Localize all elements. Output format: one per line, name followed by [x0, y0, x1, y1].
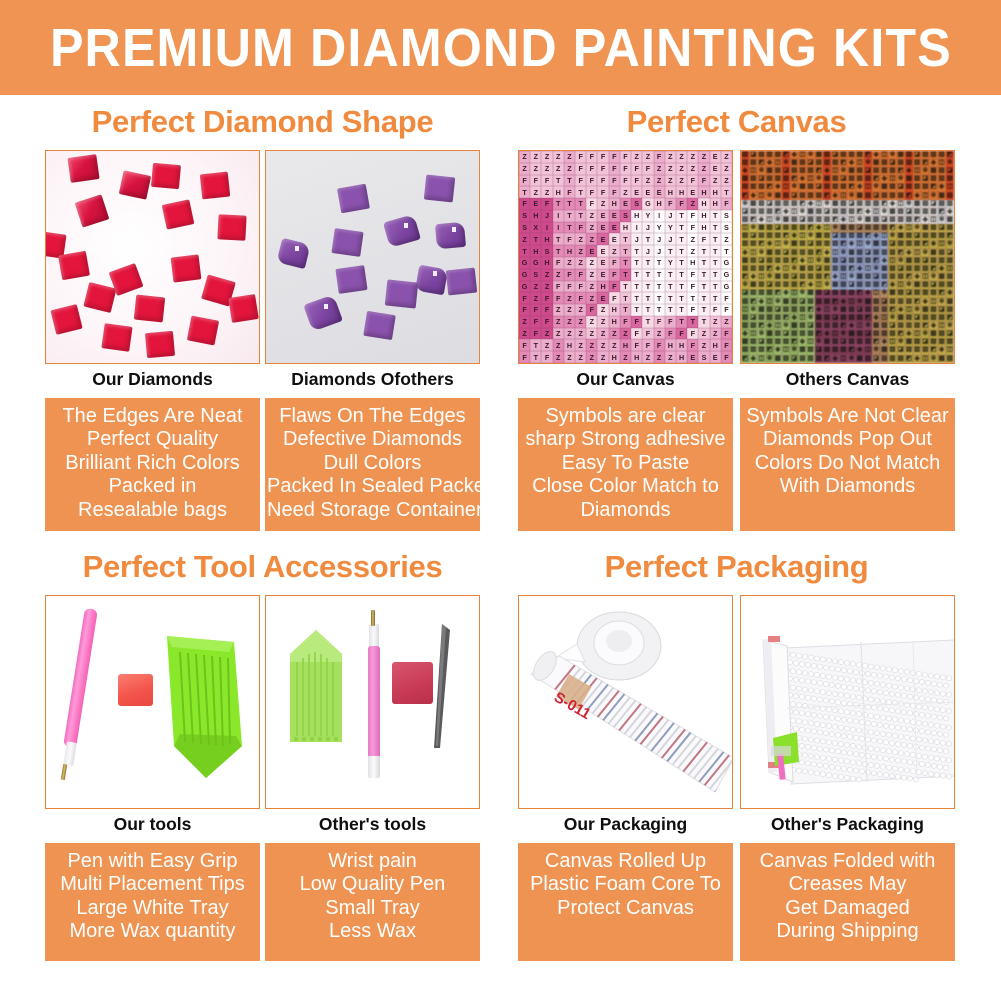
feature-line: More Wax quantity: [47, 920, 258, 944]
feature-line: Wrist pain: [267, 850, 478, 874]
section-title-canvas: Perfect Canvas: [518, 106, 955, 137]
others-diamonds-photo: [265, 150, 480, 364]
feature-line: Small Tray: [267, 897, 478, 921]
section-diamond-shape: Perfect Diamond Shape Our Diamonds Diamo…: [45, 106, 480, 531]
photo-pair-tools: [45, 595, 480, 809]
feature-line: Plastic Foam Core To: [520, 873, 731, 897]
feature-line: Easy To Paste: [520, 452, 731, 476]
section-title-tool-accessories: Perfect Tool Accessories: [45, 551, 480, 582]
others-canvas-photo: ▨◪▤▥▧◩◈◫※▩▨◪▤▥▧◩◈◫※▩▨◪▤▥▧◩▥▧◩◈◫※▩▨◪▤▥▧◩◈…: [740, 150, 955, 364]
feature-line: Get Damaged: [742, 897, 953, 921]
feature-line: The Edges Are Neat: [47, 405, 258, 429]
textbox-others-tools: Wrist pain Low Quality Pen Small Tray Le…: [265, 843, 480, 961]
feature-line: Canvas Folded with: [742, 850, 953, 874]
feature-line: Colors Do Not Match: [742, 452, 953, 476]
our-tools-art: [46, 596, 259, 808]
page-title: PREMIUM DIAMOND PAINTING KITS: [50, 21, 952, 75]
feature-line: Canvas Rolled Up: [520, 850, 731, 874]
feature-line: Symbols are clear: [520, 405, 731, 429]
section-title-diamond-shape: Perfect Diamond Shape: [45, 106, 480, 137]
feature-line: Dull Colors: [267, 452, 478, 476]
feature-line: Large White Tray: [47, 897, 258, 921]
feature-line: With Diamonds: [742, 475, 953, 499]
our-packaging-photo: S-011: [518, 595, 733, 809]
feature-line: Creases May: [742, 873, 953, 897]
caption-others-diamonds: Diamonds Ofothers: [265, 371, 480, 389]
caption-others-canvas: Others Canvas: [740, 371, 955, 389]
feature-line: Packed in: [47, 475, 258, 499]
section-packaging: Perfect Packaging S-011 Our Packaging Ot…: [518, 551, 955, 961]
our-tools-photo: [45, 595, 260, 809]
caption-row-packaging: Our Packaging Other's Packaging: [518, 816, 955, 834]
feature-line: Packed In Sealed Packets: [267, 475, 478, 499]
section-title-packaging: Perfect Packaging: [518, 551, 955, 582]
our-canvas-symbol-grid: ZZZZZFFFFFZZFZZZZEZZZZZZFFFFFFFZZZZZEZFF…: [519, 151, 732, 363]
textbox-our-tools: Pen with Easy Grip Multi Placement Tips …: [45, 843, 260, 961]
others-tools-art: [266, 596, 479, 808]
textbox-row-diamond-shape: The Edges Are Neat Perfect Quality Brill…: [45, 398, 480, 532]
textbox-our-canvas: Symbols are clear sharp Strong adhesive …: [518, 398, 733, 532]
red-diamonds-art: [46, 151, 259, 363]
textbox-row-tools: Pen with Easy Grip Multi Placement Tips …: [45, 843, 480, 961]
feature-line: Pen with Easy Grip: [47, 850, 258, 874]
feature-line: Protect Canvas: [520, 897, 731, 921]
caption-our-diamonds: Our Diamonds: [45, 371, 260, 389]
feature-line: Less Wax: [267, 920, 478, 944]
feature-line: Low Quality Pen: [267, 873, 478, 897]
canvas-tube-art: S-011: [519, 596, 732, 808]
others-canvas-symbol-grid: ▨◪▤▥▧◩◈◫※▩▨◪▤▥▧◩◈◫※▩▨◪▤▥▧◩▥▧◩◈◫※▩▨◪▤▥▧◩◈…: [741, 151, 954, 363]
photo-pair-diamond-shape: [45, 150, 480, 364]
feature-line: Perfect Quality: [47, 428, 258, 452]
section-tool-accessories: Perfect Tool Accessories Our tools Other…: [45, 551, 480, 961]
feature-line: Defective Diamonds: [267, 428, 478, 452]
textbox-others-diamonds: Flaws On The Edges Defective Diamonds Du…: [265, 398, 480, 532]
caption-our-canvas: Our Canvas: [518, 371, 733, 389]
feature-line: Multi Placement Tips: [47, 873, 258, 897]
textbox-our-packaging: Canvas Rolled Up Plastic Foam Core To Pr…: [518, 843, 733, 961]
infographic-page: PREMIUM DIAMOND PAINTING KITS Perfect Di…: [0, 0, 1001, 1001]
textbox-others-canvas: Symbols Are Not Clear Diamonds Pop Out C…: [740, 398, 955, 532]
textbox-others-packaging: Canvas Folded with Creases May Get Damag…: [740, 843, 955, 961]
textbox-row-canvas: Symbols are clear sharp Strong adhesive …: [518, 398, 955, 532]
caption-row-diamond-shape: Our Diamonds Diamonds Ofothers: [45, 371, 480, 389]
bubble-mailer-art: [741, 596, 954, 808]
caption-our-tools: Our tools: [45, 816, 260, 834]
photo-pair-canvas: ZZZZZFFFFFZZFZZZZEZZZZZZFFFFFFFZZZZZEZFF…: [518, 150, 955, 364]
feature-line: Flaws On The Edges: [267, 405, 478, 429]
others-tools-photo: [265, 595, 480, 809]
purple-diamonds-art: [266, 151, 479, 363]
feature-line: Need Storage Containers: [267, 499, 478, 523]
others-packaging-photo: [740, 595, 955, 809]
feature-line: During Shipping: [742, 920, 953, 944]
textbox-row-packaging: Canvas Rolled Up Plastic Foam Core To Pr…: [518, 843, 955, 961]
header-bar: PREMIUM DIAMOND PAINTING KITS: [0, 0, 1001, 95]
caption-others-tools: Other's tools: [265, 816, 480, 834]
section-canvas: Perfect Canvas ZZZZZFFFFFZZFZZZZEZZZZZZF…: [518, 106, 955, 531]
our-canvas-photo: ZZZZZFFFFFZZFZZZZEZZZZZZFFFFFFFZZZZZEZFF…: [518, 150, 733, 364]
caption-our-packaging: Our Packaging: [518, 816, 733, 834]
photo-pair-packaging: S-011: [518, 595, 955, 809]
our-diamonds-photo: [45, 150, 260, 364]
caption-others-packaging: Other's Packaging: [740, 816, 955, 834]
feature-line: Brilliant Rich Colors: [47, 452, 258, 476]
feature-line: Diamonds Pop Out: [742, 428, 953, 452]
feature-line: Symbols Are Not Clear: [742, 405, 953, 429]
textbox-our-diamonds: The Edges Are Neat Perfect Quality Brill…: [45, 398, 260, 532]
caption-row-tools: Our tools Other's tools: [45, 816, 480, 834]
feature-line: Diamonds: [520, 499, 731, 523]
feature-line: Close Color Match to: [520, 475, 731, 499]
feature-line: Resealable bags: [47, 499, 258, 523]
feature-line: sharp Strong adhesive: [520, 428, 731, 452]
caption-row-canvas: Our Canvas Others Canvas: [518, 371, 955, 389]
